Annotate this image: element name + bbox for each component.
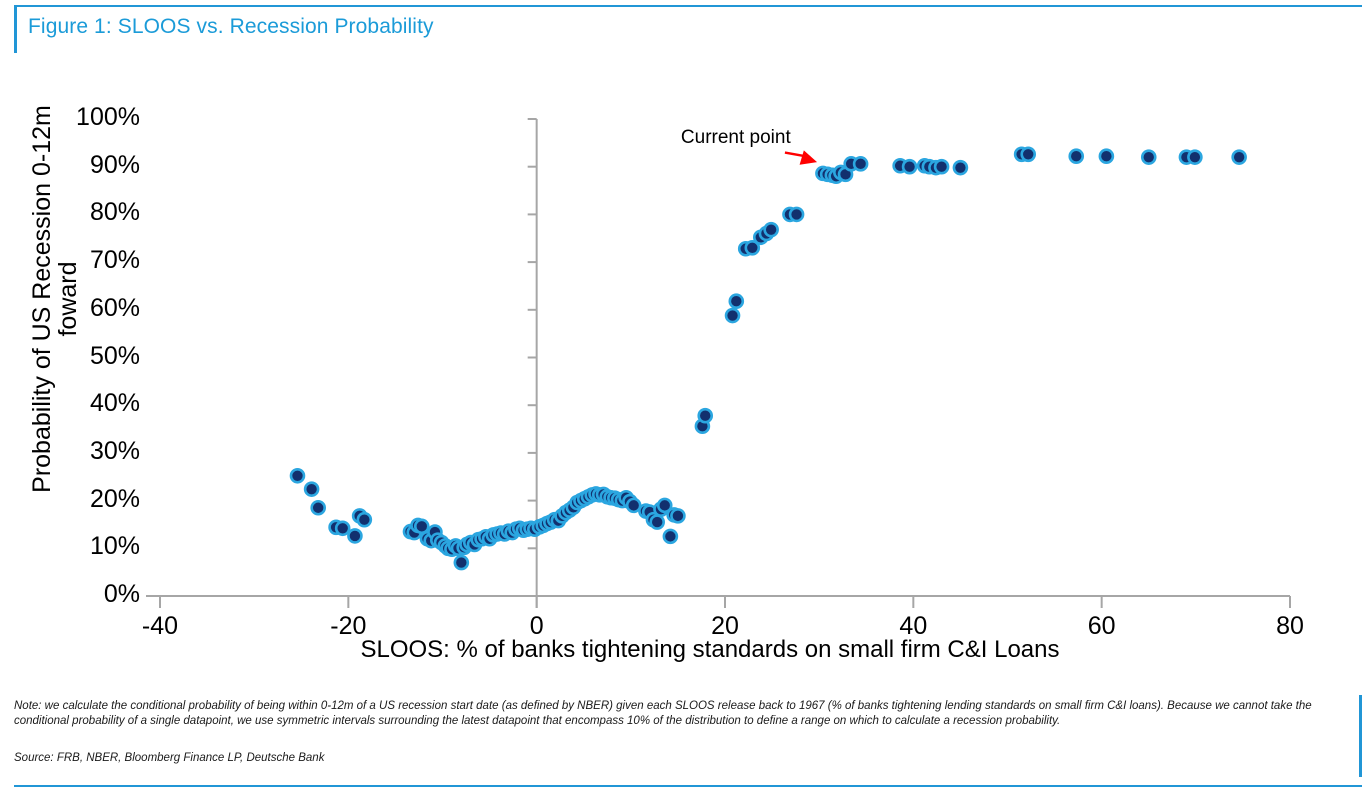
figure-title: Figure 1: SLOOS vs. Recession Probabilit… [28, 15, 434, 39]
x-tick-label: 20 [665, 612, 785, 641]
y-tick-label: 30% [0, 437, 140, 466]
annotation-current-point-label: Current point [681, 127, 791, 149]
annotation-arrow [785, 150, 817, 164]
x-tick-label: 40 [853, 612, 973, 641]
y-tick-label: 60% [0, 294, 140, 323]
source-text: Source: FRB, NBER, Bloomberg Finance LP,… [14, 751, 1344, 766]
y-tick-label: 100% [0, 103, 140, 132]
y-tick-label: 70% [0, 246, 140, 275]
y-tick-label: 90% [0, 151, 140, 180]
tick-marks [160, 119, 1290, 608]
x-tick-label: -40 [100, 612, 220, 641]
x-tick-label: 80 [1230, 612, 1350, 641]
note-text: Note: we calculate the conditional proba… [14, 699, 1344, 729]
y-tick-label: 50% [0, 342, 140, 371]
y-tick-label: 20% [0, 485, 140, 514]
y-tick-label: 40% [0, 389, 140, 418]
x-tick-label: -20 [288, 612, 408, 641]
chart-area: Probability of US Recession 0-12m foward… [0, 58, 1370, 683]
x-tick-label: 0 [477, 612, 597, 641]
axis-lines [146, 119, 1290, 608]
data-point-group [291, 148, 1246, 569]
y-tick-label: 0% [0, 580, 140, 609]
header-accent-bar [14, 5, 17, 53]
footnote-bottom-rule [14, 785, 1362, 787]
x-tick-label: 60 [1042, 612, 1162, 641]
footnote-accent-bar [1359, 695, 1362, 777]
y-tick-label: 80% [0, 198, 140, 227]
header-top-rule [14, 5, 1362, 7]
figure-header: Figure 1: SLOOS vs. Recession Probabilit… [0, 0, 1370, 58]
scatter-plot [0, 58, 1370, 683]
y-tick-label: 10% [0, 532, 140, 561]
footnote-block: Note: we calculate the conditional proba… [0, 683, 1370, 801]
